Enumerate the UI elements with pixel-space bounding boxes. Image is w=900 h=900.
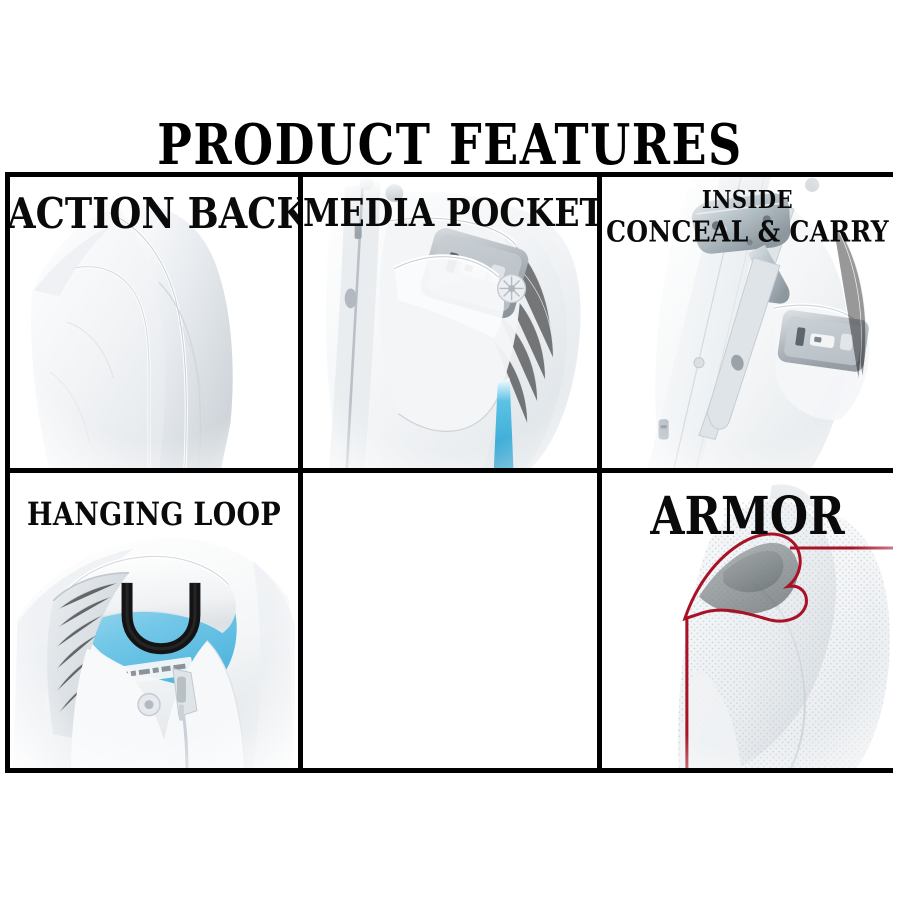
feature-grid: ACTION BACK [5, 172, 893, 773]
feature-cell-action-back[interactable]: ACTION BACK [10, 177, 303, 473]
feature-cell-media-pocket[interactable]: MEDIA POCKET [303, 177, 602, 473]
product-features-infographic: PRODUCT FEATURES [0, 0, 900, 900]
hanging-loop-photo [10, 473, 298, 769]
page-title: PRODUCT FEATURES [0, 113, 900, 176]
feature-cell-inside-conceal-carry[interactable]: INSIDE CONCEAL & CARRY [602, 177, 893, 473]
armor-photo [602, 473, 893, 769]
feature-cell-armor[interactable]: ARMOR [602, 473, 893, 769]
action-back-photo [10, 177, 298, 468]
inside-conceal-carry-photo [602, 177, 893, 468]
media-pocket-photo [303, 177, 597, 468]
feature-cell-empty [303, 473, 602, 769]
feature-cell-hanging-loop[interactable]: HANGING LOOP [10, 473, 303, 769]
